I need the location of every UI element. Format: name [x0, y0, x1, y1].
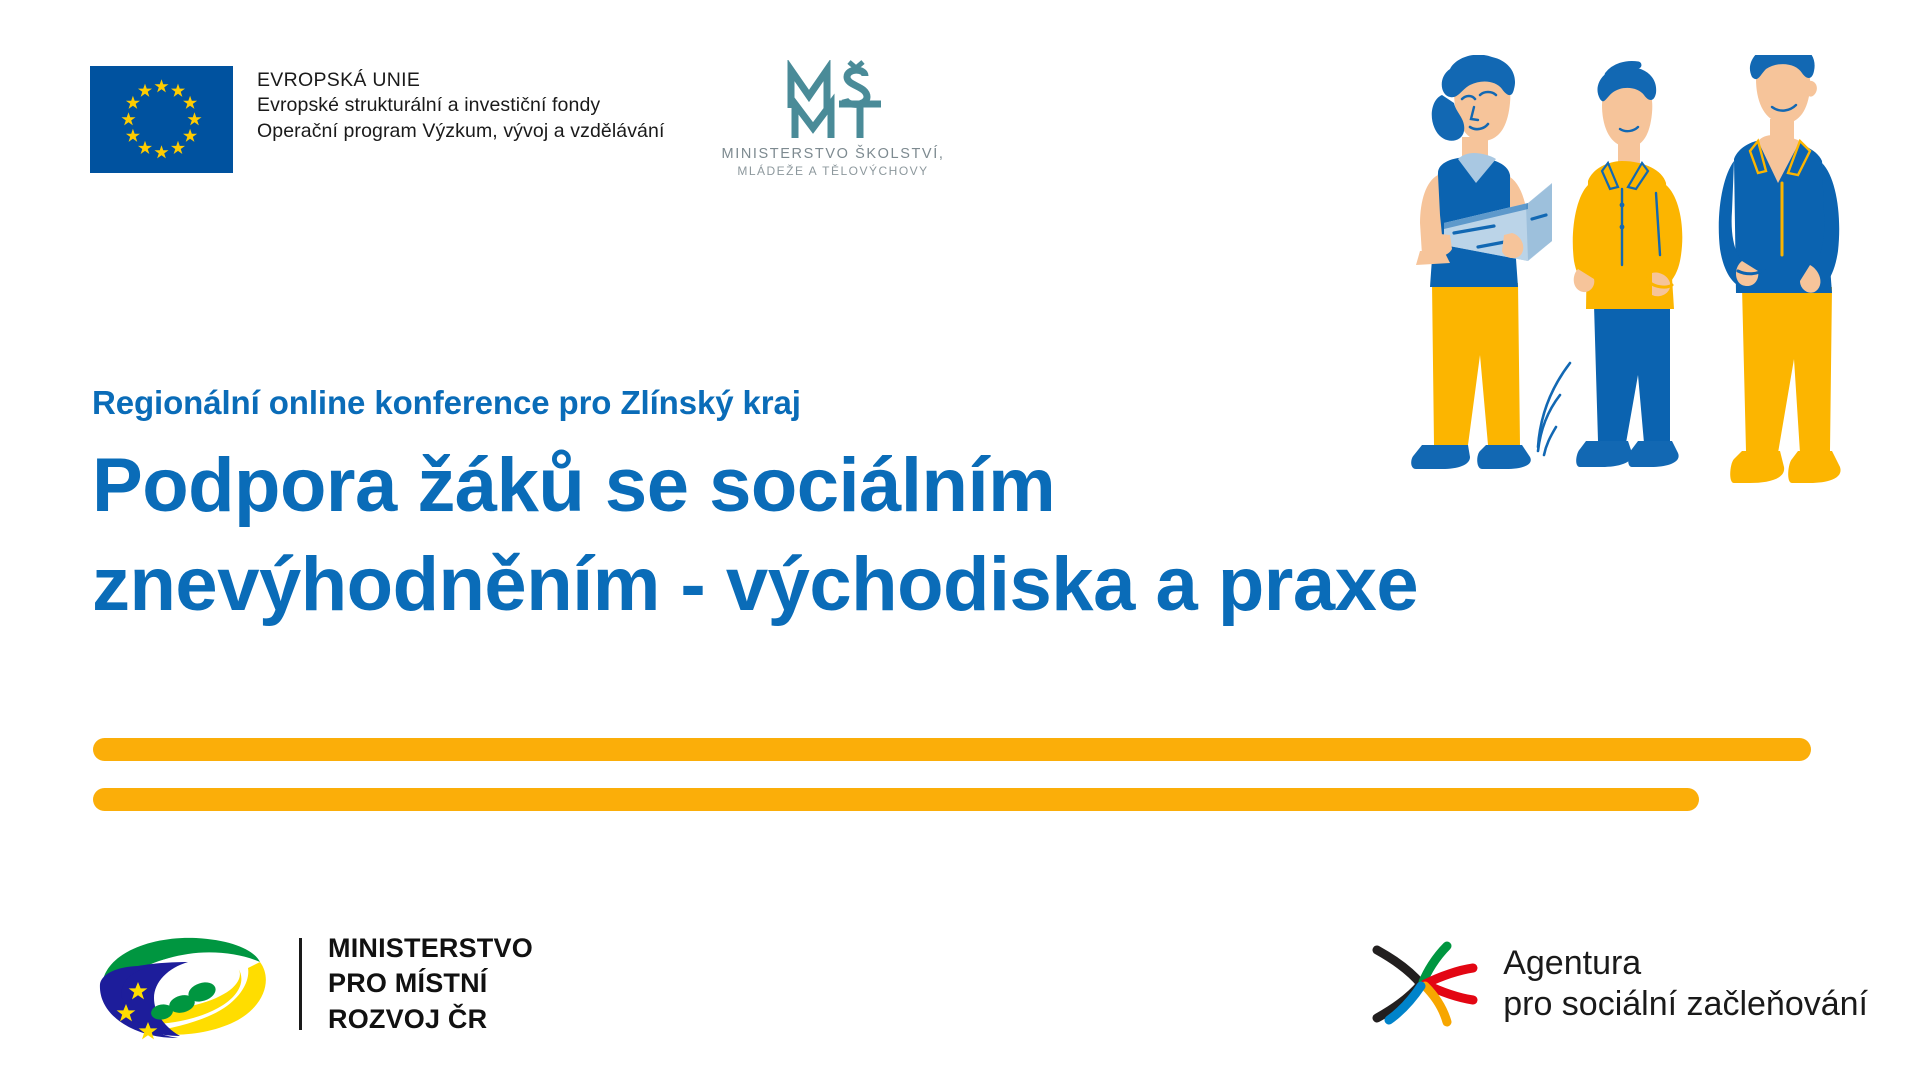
agentura-logo: Agentura pro sociální začleňování — [1369, 938, 1868, 1030]
mmr-logo: MINISTERSTVO PRO MÍSTNÍ ROZVOJ ČR — [92, 928, 533, 1040]
mmr-logo-divider — [299, 938, 302, 1030]
conference-banner-slide: EVROPSKÁ UNIE Evropské strukturální a in… — [0, 0, 1920, 1080]
agentura-logo-text: Agentura pro sociální začleňování — [1503, 943, 1868, 1026]
conference-title-line-2: znevýhodněním - východiska a praxe — [92, 536, 1852, 635]
eu-text-line-3: Operační program Výzkum, vývoj a vzděláv… — [257, 119, 664, 144]
agentura-text-line-2: pro sociální začleňování — [1503, 984, 1868, 1025]
mmr-swirl-emblem-icon — [92, 928, 277, 1040]
conference-title-line-1: Podpora žáků se sociálním — [92, 437, 1852, 536]
eu-flag-icon — [90, 66, 233, 173]
msmt-logo: MINISTERSTVO ŠKOLSTVÍ, MLÁDEŽE A TĚLOVÝC… — [718, 60, 948, 178]
conference-eyebrow: Regionální online konference pro Zlínský… — [92, 385, 1852, 421]
eu-logo-text: EVROPSKÁ UNIE Evropské strukturální a in… — [257, 68, 664, 144]
headline-block: Regionální online konference pro Zlínský… — [92, 385, 1852, 635]
eu-text-line-2: Evropské strukturální a investiční fondy — [257, 93, 664, 118]
agentura-text-line-1: Agentura — [1503, 943, 1868, 984]
eu-logo: EVROPSKÁ UNIE Evropské strukturální a in… — [90, 66, 664, 173]
mmr-text-line-2: PRO MÍSTNÍ — [328, 966, 533, 1001]
mmr-logo-text: MINISTERSTVO PRO MÍSTNÍ ROZVOJ ČR — [328, 931, 533, 1036]
msmt-text-line-2: MLÁDEŽE A TĚLOVÝCHOVY — [718, 164, 948, 178]
mmr-text-line-1: MINISTERSTVO — [328, 931, 533, 966]
msmt-text-line-1: MINISTERSTVO ŠKOLSTVÍ, — [718, 146, 948, 162]
mmr-text-line-3: ROZVOJ ČR — [328, 1002, 533, 1037]
msmt-monogram-icon — [769, 60, 897, 142]
agentura-star-emblem-icon — [1369, 938, 1481, 1030]
eu-text-line-1: EVROPSKÁ UNIE — [257, 68, 664, 93]
orange-divider-bar-short — [93, 788, 1699, 811]
orange-divider-bar-long — [93, 738, 1811, 761]
